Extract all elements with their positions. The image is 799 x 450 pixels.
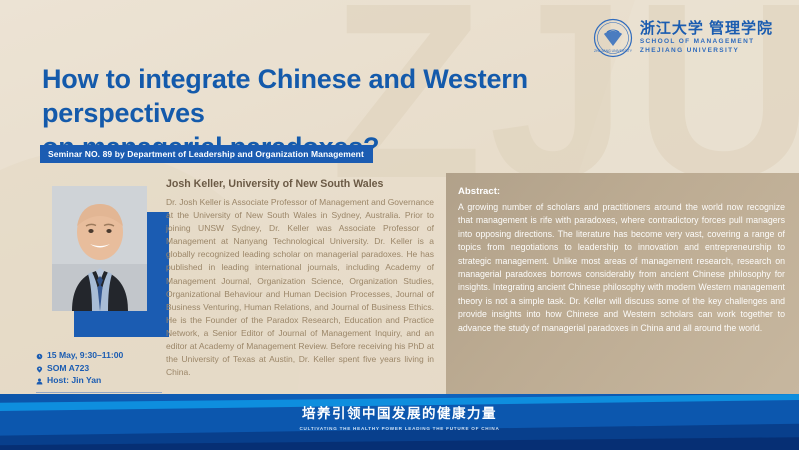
speaker-bio-block: Josh Keller, University of New South Wal… xyxy=(166,178,434,379)
speaker-portrait xyxy=(52,186,147,311)
location-pin-icon xyxy=(36,364,43,372)
title-line-1: How to integrate Chinese and Western per… xyxy=(42,62,682,130)
seminar-badge: Seminar NO. 89 by Department of Leadersh… xyxy=(40,145,373,163)
speaker-name: Josh Keller, University of New South Wal… xyxy=(166,178,434,191)
abstract-text: A growing number of scholars and practit… xyxy=(458,201,785,335)
seminar-poster: ZJU ZHEJIANG UNIVERSITY 浙江大学 管理学院 SCHOOL… xyxy=(0,0,799,450)
footer-banner: 培养引领中国发展的健康力量 CULTIVATING THE HEALTHY PO… xyxy=(0,394,799,450)
detail-text-time: 15 May, 9:30–11:00 xyxy=(47,349,123,362)
person-icon xyxy=(36,376,43,384)
logo-english-school: SCHOOL OF MANAGEMENT xyxy=(640,38,773,46)
details-divider xyxy=(36,392,162,393)
svg-text:ZHEJIANG UNIVERSITY: ZHEJIANG UNIVERSITY xyxy=(594,49,633,53)
abstract-panel: Abstract: A growing number of scholars a… xyxy=(446,173,799,396)
zhejiang-university-seal-icon: ZHEJIANG UNIVERSITY xyxy=(593,18,633,58)
footer-slogan-chinese: 培养引领中国发展的健康力量 xyxy=(0,406,799,422)
speaker-bio-text: Dr. Josh Keller is Associate Professor o… xyxy=(166,196,434,379)
logo-english-university: ZHEJIANG UNIVERSITY xyxy=(640,47,773,55)
detail-row-host: Host: Jin Yan xyxy=(36,374,164,387)
logo-chinese-name: 浙江大学 管理学院 xyxy=(640,21,773,37)
detail-text-location: SOM A723 xyxy=(47,362,89,375)
footer-slogan-english: CULTIVATING THE HEALTHY POWER LEADING TH… xyxy=(0,425,799,432)
event-details: 15 May, 9:30–11:00 SOM A723 Host: Jin Ya… xyxy=(36,349,164,387)
clock-icon xyxy=(36,351,43,359)
abstract-label: Abstract: xyxy=(458,185,785,198)
university-logo: ZHEJIANG UNIVERSITY 浙江大学 管理学院 SCHOOL OF … xyxy=(593,18,773,58)
logo-text-block: 浙江大学 管理学院 SCHOOL OF MANAGEMENT ZHEJIANG … xyxy=(640,21,773,55)
detail-text-host: Host: Jin Yan xyxy=(47,374,101,387)
speaker-photo-block xyxy=(52,186,147,311)
detail-row-location: SOM A723 xyxy=(36,362,164,375)
detail-row-time: 15 May, 9:30–11:00 xyxy=(36,349,164,362)
